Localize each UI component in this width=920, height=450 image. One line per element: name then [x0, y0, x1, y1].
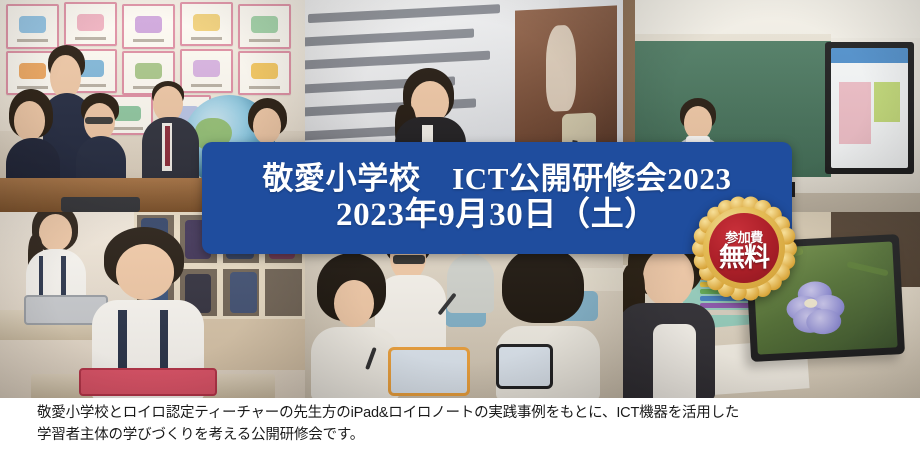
event-date-line: 2023年9月30日（土）: [336, 198, 658, 233]
badge-red-disc: 参加費 無料: [709, 213, 779, 283]
caption-line-2: 学習者主体の学びづくりを考える公開研修会です。: [37, 424, 894, 446]
event-poster: 敬愛小学校 ICT公開研修会2023 2023年9月30日（土） 参加費 無料 …: [0, 0, 920, 450]
free-admission-badge: 参加費 無料: [694, 198, 794, 298]
event-title-line1: 敬愛小学校 ICT公開研修会2023: [262, 163, 731, 196]
poster-caption-bar: 敬愛小学校とロイロ認定ティーチャーの先生方のiPad&ロイロノートの実践事例をも…: [0, 398, 920, 450]
caption-line-1: 敬愛小学校とロイロ認定ティーチャーの先生方のiPad&ロイロノートの実践事例をも…: [37, 402, 894, 424]
badge-free-label: 無料: [719, 244, 769, 270]
